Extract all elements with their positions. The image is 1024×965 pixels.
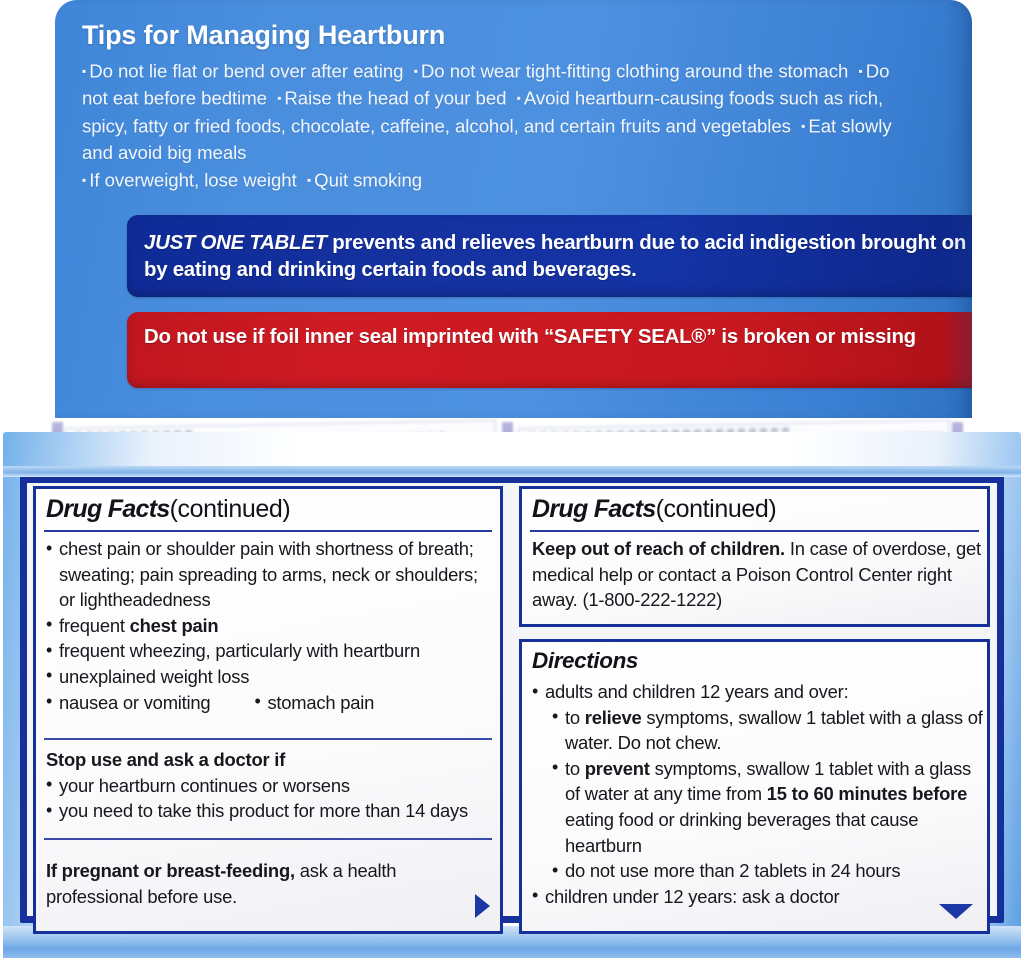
list-item: children under 12 years: ask a doctor [532, 884, 984, 910]
drug-facts-continued: (continued) [170, 495, 291, 523]
directions-sublist: to relieve symptoms, swallow 1 tablet wi… [552, 705, 984, 884]
keep-out-heading: Keep out of reach of children. [532, 538, 785, 559]
drug-facts-title: Drug Facts [532, 495, 656, 523]
drug-facts-continued: (continued) [656, 495, 777, 523]
list-item: frequent chest pain [46, 613, 494, 639]
list-item-text: stomach pain [254, 690, 374, 716]
directions-panel: Directions adults and children 12 years … [519, 639, 990, 934]
tips-item-0: Do not lie flat or bend over after eatin… [89, 61, 403, 82]
list-item: do not use more than 2 tablets in 24 hou… [552, 858, 984, 884]
heading-divider [44, 530, 492, 532]
sub-prevent-pre: to [565, 758, 585, 779]
pregnancy-heading: If pregnant or breast-feeding, [46, 860, 295, 881]
keep-out-of-reach-section: Keep out of reach of children. In case o… [532, 536, 982, 613]
list-item-text: nausea or vomiting [59, 690, 210, 716]
list-item: you need to take this product for more t… [46, 798, 494, 824]
directions-list-2: children under 12 years: ask a doctor [532, 884, 984, 910]
tips-body: ▪Do not lie flat or bend over after eati… [82, 58, 912, 194]
directions-list: adults and children 12 years and over: [532, 679, 984, 705]
directions-heading: Directions [532, 648, 638, 674]
section-divider-2 [44, 838, 492, 840]
just-one-tablet-callout: JUST ONE TABLET prevents and relieves he… [127, 215, 972, 297]
list-item: adults and children 12 years and over: [532, 679, 984, 705]
tips-item-3: Raise the head of your bed [284, 88, 506, 109]
list-item: frequent wheezing, particularly with hea… [46, 638, 494, 664]
warnings-list-wrap: chest pain or shoulder pain with shortne… [46, 536, 494, 715]
sub-relieve-pre: to [565, 707, 585, 728]
chest-pain-emphasis: chest pain [130, 615, 219, 636]
panel-right-heading: Drug Facts(continued) [532, 495, 776, 524]
sub-prevent-post: eating food or drinking beverages that c… [565, 809, 918, 856]
sub-prevent-bold2: 15 to 60 minutes before [767, 783, 967, 804]
sub-relieve-bold: relieve [585, 707, 642, 728]
drug-facts-title: Drug Facts [46, 495, 170, 523]
just-one-tablet-text: JUST ONE TABLET prevents and relieves he… [144, 230, 972, 283]
tips-title: Tips for Managing Heartburn [82, 20, 445, 51]
panel-left-heading: Drug Facts(continued) [46, 495, 290, 524]
list-item: to relieve symptoms, swallow 1 tablet wi… [552, 705, 984, 756]
list-item: to prevent symptoms, swallow 1 tablet wi… [552, 756, 984, 858]
stop-use-heading: Stop use and ask a doctor if [46, 747, 494, 773]
just-one-tablet-emphasis: JUST ONE TABLET [144, 232, 327, 254]
tips-item-6: If overweight, lose weight [89, 169, 296, 190]
directions-body: adults and children 12 years and over: t… [532, 679, 984, 909]
arrow-down-icon [939, 904, 973, 919]
drug-facts-panel-right-top: Drug Facts(continued) Keep out of reach … [519, 486, 990, 627]
bullet-square-icon: ▪ [517, 91, 524, 105]
safety-seal-warning-text: Do not use if foil inner seal imprinted … [144, 324, 972, 351]
list-item: chest pain or shoulder pain with shortne… [46, 536, 494, 613]
heading-divider [530, 530, 979, 532]
carton-top-lip [3, 466, 1021, 477]
stop-use-section: Stop use and ask a doctor if your heartb… [46, 747, 494, 824]
pregnancy-section: If pregnant or breast-feeding, ask a hea… [46, 858, 466, 909]
bullet-square-icon: ▪ [858, 64, 865, 78]
sub-prevent-bold: prevent [585, 758, 650, 779]
carton-top-flap: Tips for Managing Heartburn ▪Do not lie … [55, 0, 972, 418]
tips-item-1: Do not wear tight-fitting clothing aroun… [421, 61, 848, 82]
list-item: your heartburn continues or worsens [46, 773, 494, 799]
drug-facts-panel-left: Drug Facts(continued) chest pain or shou… [33, 486, 503, 934]
tips-item-7: Quit smoking [314, 169, 422, 190]
section-divider-1 [44, 738, 492, 740]
product-package-image: Tips for Managing Heartburn ▪Do not lie … [0, 0, 1024, 965]
stop-use-list: your heartburn continues or worsens you … [46, 773, 494, 824]
arrow-right-icon [475, 894, 490, 918]
safety-seal-warning-callout: Do not use if foil inner seal imprinted … [127, 312, 972, 388]
list-item: unexplained weight loss [46, 664, 494, 690]
warnings-list: chest pain or shoulder pain with shortne… [46, 536, 494, 715]
bullet-square-icon: ▪ [414, 64, 421, 78]
list-item: nausea or vomiting stomach pain [46, 690, 494, 716]
